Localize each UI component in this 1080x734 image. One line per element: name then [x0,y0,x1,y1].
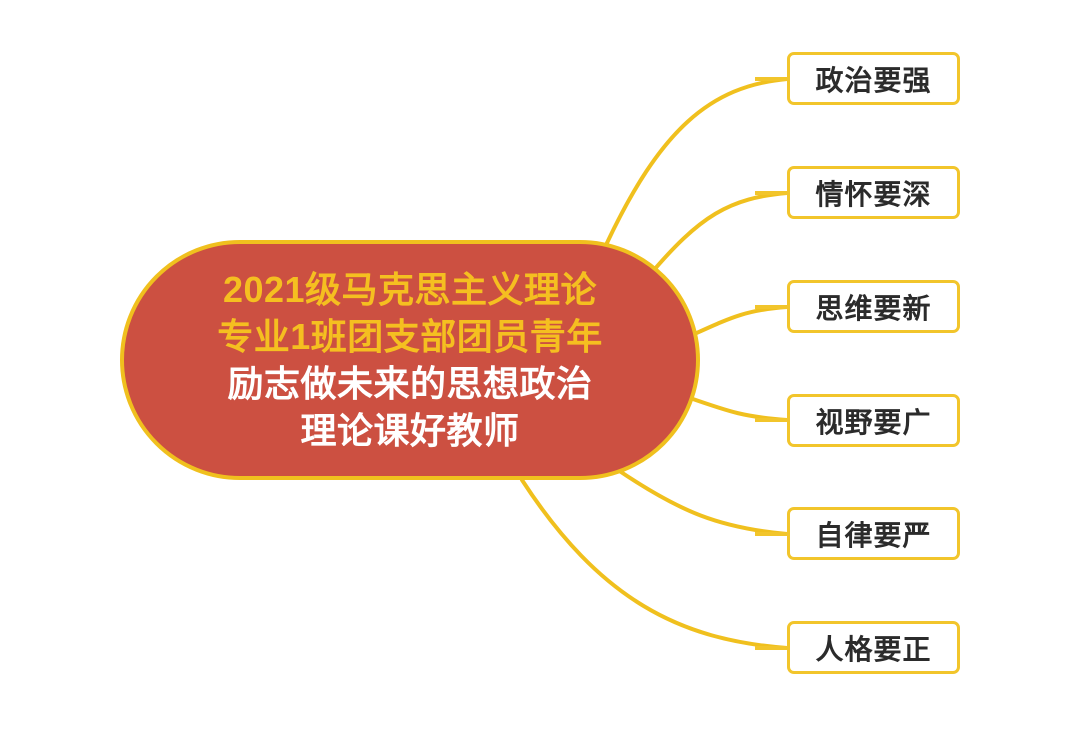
branch-label-6: 人格要正 [815,628,931,668]
branch-node-4[interactable]: 视野要广 [787,394,960,447]
branch-node-6[interactable]: 人格要正 [787,621,960,674]
connector-1 [606,79,787,245]
mindmap-canvas: 2021级马克思主义理论 专业1班团支部团员青年 励志做未来的思想政治 理论课好… [0,0,1080,734]
branch-node-2[interactable]: 情怀要深 [787,166,960,219]
branch-label-1: 政治要强 [815,59,931,99]
connector-5 [618,470,787,534]
connector-4 [690,398,787,420]
connector-2 [648,193,787,277]
central-line-1: 2021级马克思主义理论 [223,266,597,313]
central-line-4: 理论课好教师 [300,407,519,454]
branch-node-5[interactable]: 自律要严 [787,507,960,560]
branch-label-4: 视野要广 [815,401,931,441]
connector-3 [690,307,787,336]
central-line-3: 励志做未来的思想政治 [227,360,592,407]
branch-label-2: 情怀要深 [815,173,931,213]
central-line-2: 专业1班团支部团员青年 [217,313,603,360]
branch-label-5: 自律要严 [815,514,931,554]
connector-6 [522,480,787,648]
branch-node-3[interactable]: 思维要新 [787,280,960,333]
central-node[interactable]: 2021级马克思主义理论 专业1班团支部团员青年 励志做未来的思想政治 理论课好… [120,240,700,480]
branch-label-3: 思维要新 [815,287,931,327]
branch-node-1[interactable]: 政治要强 [787,52,960,105]
